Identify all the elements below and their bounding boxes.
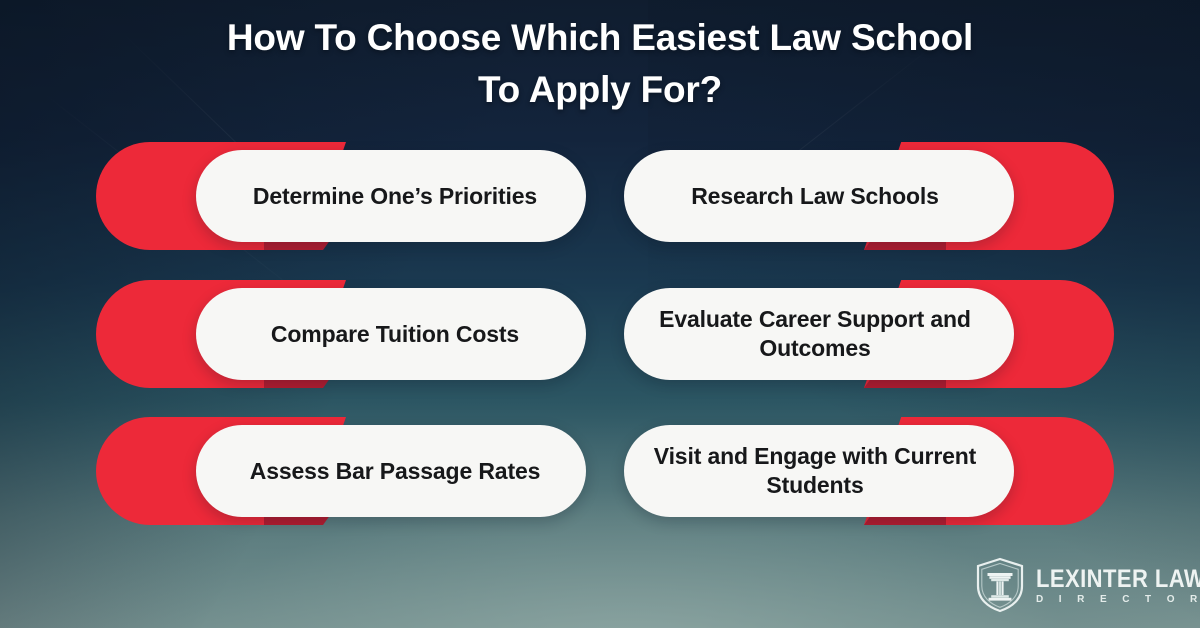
step-pill[interactable]: Research Law Schools <box>624 150 1014 242</box>
brand-tagline: D I R E C T O R Y <box>1036 593 1200 606</box>
step-label: Evaluate Career Support and Outcomes <box>642 305 988 363</box>
list-item[interactable]: Research Law Schools <box>624 142 1114 250</box>
step-pill[interactable]: Compare Tuition Costs <box>196 288 586 380</box>
step-label: Research Law Schools <box>691 182 939 211</box>
list-item[interactable]: Evaluate Career Support and Outcomes <box>624 280 1114 388</box>
shield-column-icon <box>974 557 1026 613</box>
step-label: Compare Tuition Costs <box>271 320 519 349</box>
list-item[interactable]: Compare Tuition Costs <box>96 280 586 388</box>
infographic-poster: How To Choose Which Easiest Law School T… <box>0 0 1200 628</box>
steps-list: Determine One’s Priorities Research Law … <box>0 0 1200 628</box>
step-pill[interactable]: Determine One’s Priorities <box>196 150 586 242</box>
list-item[interactable]: Determine One’s Priorities <box>96 142 586 250</box>
step-pill[interactable]: Visit and Engage with Current Students <box>624 425 1014 517</box>
brand-logo-text: LEXINTER LAW D I R E C T O R Y <box>1036 564 1200 606</box>
list-item[interactable]: Visit and Engage with Current Students <box>624 417 1114 525</box>
step-label: Visit and Engage with Current Students <box>642 442 988 500</box>
step-label: Determine One’s Priorities <box>253 182 537 211</box>
step-label: Assess Bar Passage Rates <box>250 457 540 486</box>
step-pill[interactable]: Evaluate Career Support and Outcomes <box>624 288 1014 380</box>
step-pill[interactable]: Assess Bar Passage Rates <box>196 425 586 517</box>
list-item[interactable]: Assess Bar Passage Rates <box>96 417 586 525</box>
brand-logo[interactable]: LEXINTER LAW D I R E C T O R Y <box>974 556 1188 614</box>
brand-name: LEXINTER LAW <box>1036 566 1200 592</box>
